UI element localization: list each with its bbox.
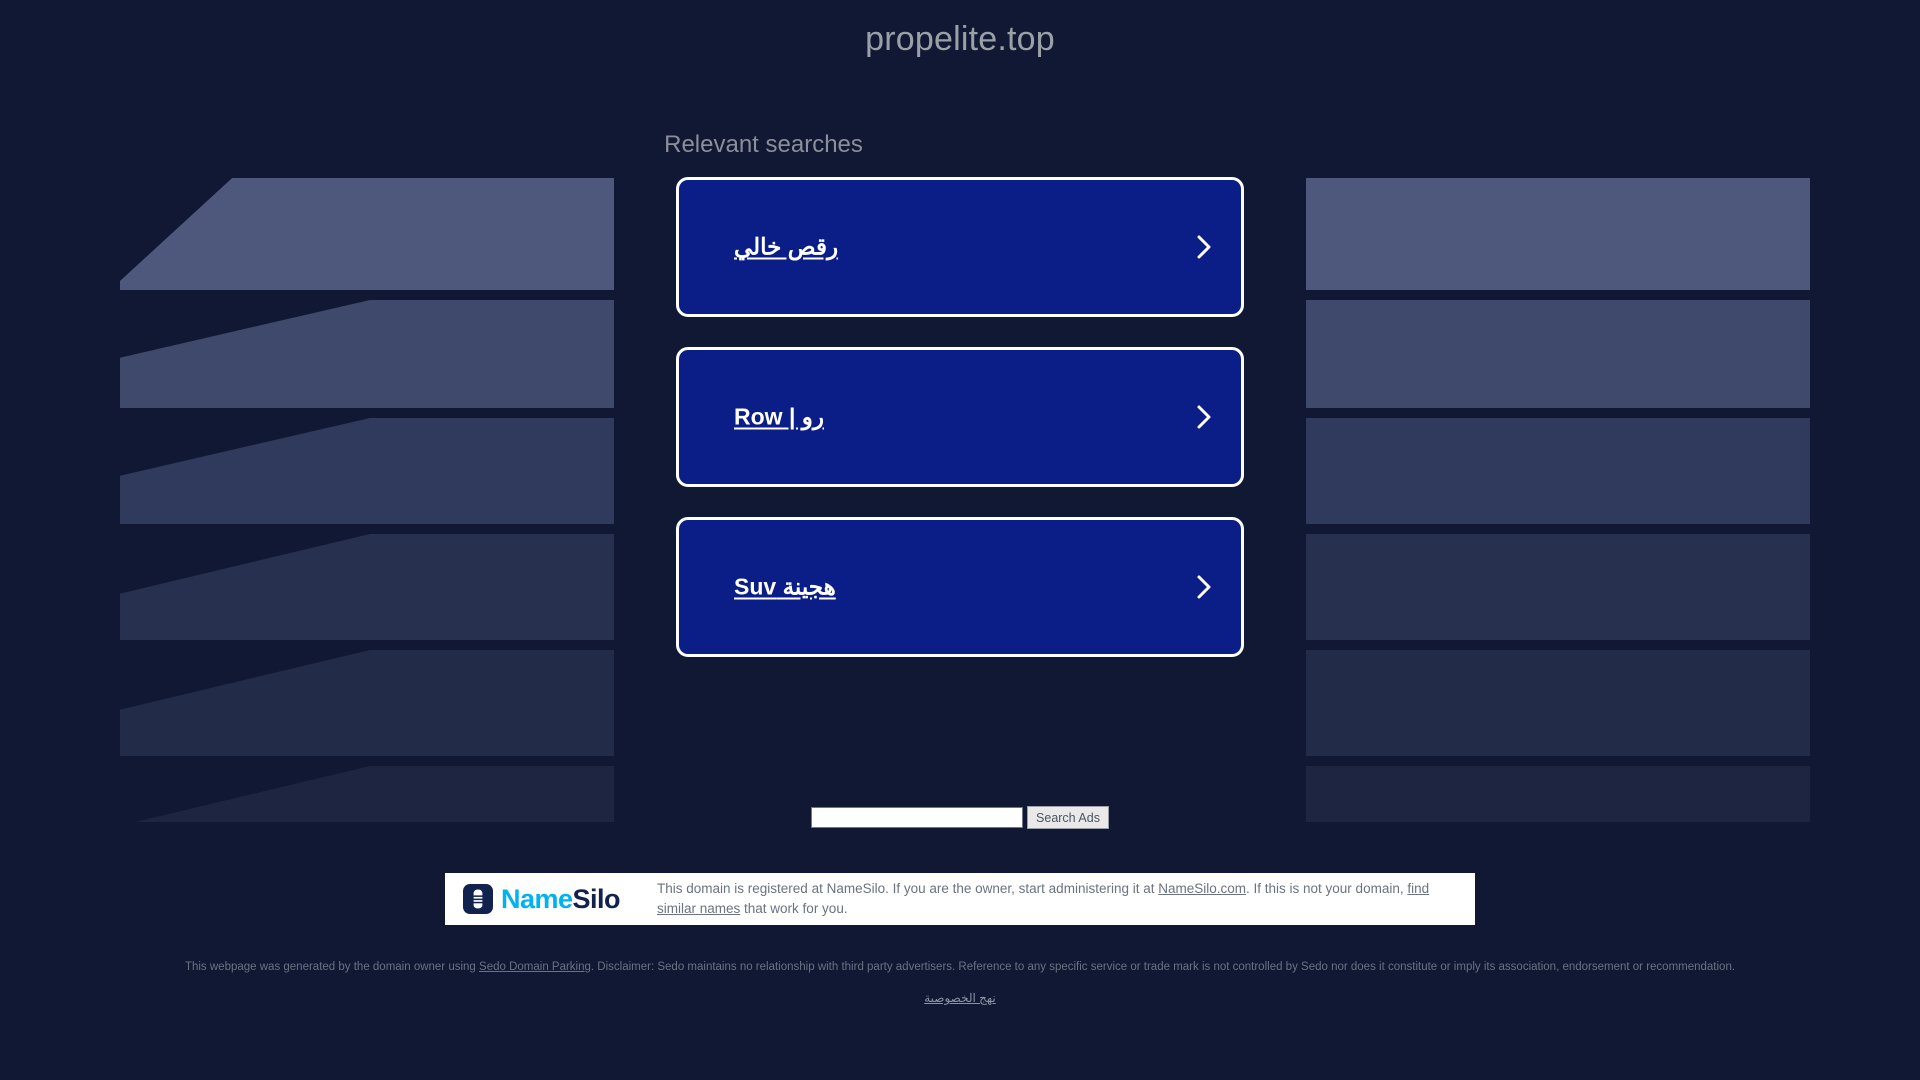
- search-input[interactable]: [811, 807, 1023, 828]
- namesilo-text-after: that work for you.: [740, 901, 847, 916]
- namesilo-wordmark-part2: Silo: [573, 884, 621, 914]
- namesilo-silo-icon: [463, 884, 493, 914]
- search-ads-button[interactable]: Search Ads: [1027, 806, 1109, 829]
- relevant-search-label-2: رو | Row: [734, 404, 824, 431]
- namesilo-com-link[interactable]: NameSilo.com: [1158, 881, 1246, 896]
- namesilo-banner: NameSilo This domain is registered at Na…: [445, 873, 1475, 925]
- namesilo-logo: NameSilo: [445, 884, 657, 915]
- deco-left-right-edge: [614, 178, 640, 300]
- sedo-disclaimer: This webpage was generated by the domain…: [0, 958, 1920, 976]
- disclaimer-before: This webpage was generated by the domain…: [185, 961, 479, 973]
- relevant-searches-heading: Relevant searches: [0, 131, 1527, 159]
- disclaimer-after: . Disclaimer: Sedo maintains no relation…: [591, 961, 1735, 973]
- relevant-search-label-3: هجينة Suv: [734, 574, 836, 601]
- deco-right-bands: [1160, 170, 1920, 830]
- relevant-search-card-2[interactable]: رو | Row: [676, 347, 1244, 487]
- relevant-search-card-1[interactable]: رقص خالي: [676, 177, 1244, 317]
- relevant-search-card-3[interactable]: هجينة Suv: [676, 517, 1244, 657]
- privacy-policy-link[interactable]: نهج الخصوصية: [924, 991, 996, 1005]
- namesilo-text-before: This domain is registered at NameSilo. I…: [657, 881, 1158, 896]
- chevron-right-icon: [1195, 232, 1213, 262]
- chevron-right-icon: [1195, 402, 1213, 432]
- search-ads-bar: Search Ads: [0, 806, 1920, 829]
- relevant-search-label-1: رقص خالي: [734, 234, 838, 261]
- chevron-right-icon: [1195, 572, 1213, 602]
- deco-left-bands: [110, 178, 614, 822]
- namesilo-message: This domain is registered at NameSilo. I…: [657, 879, 1475, 918]
- relevant-searches-list: رقص خالي رو | Row هجينة Suv: [676, 177, 1244, 687]
- namesilo-wordmark-part1: Name: [501, 884, 573, 914]
- parked-domain-page: propelite.top Relevant searches رقص خالي…: [0, 0, 1920, 1080]
- page-title: propelite.top: [0, 20, 1920, 59]
- footer: This webpage was generated by the domain…: [0, 958, 1920, 1007]
- deco-left-taper: [0, 170, 370, 830]
- sedo-domain-parking-link[interactable]: Sedo Domain Parking: [479, 961, 591, 973]
- namesilo-text-middle: . If this is not your domain,: [1246, 881, 1407, 896]
- namesilo-wordmark: NameSilo: [501, 884, 620, 915]
- privacy-row: نهج الخصوصية: [0, 989, 1920, 1007]
